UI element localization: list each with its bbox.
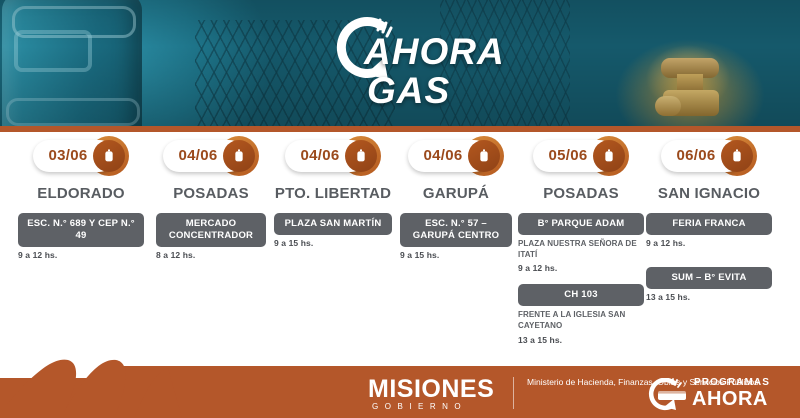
schedule-column-posadas-0406: 04/06 POSADAS MERCADO CONCENTRADOR 8 a 1… — [156, 136, 266, 336]
programas-text: PROGRAMAS — [694, 377, 770, 388]
badge-date-text: 04/06 — [293, 147, 347, 164]
hours-text: 8 a 12 hs. — [156, 250, 266, 260]
schedule-column-garupa: 04/06 GARUPÁ ESC. N.° 57 – GARUPÁ CENTRO… — [400, 136, 512, 336]
gas-cylinder-icon — [345, 140, 377, 172]
badge-date-text: 04/06 — [171, 147, 225, 164]
ahora-card-arrow-icon — [640, 378, 688, 412]
date-badge[interactable]: 05/06 — [533, 136, 629, 176]
place-chip[interactable]: SUM – B° EVITA — [646, 267, 772, 289]
schedule-column-san-ignacio: 06/06 SAN IGNACIO FERIA FRANCA 9 a 12 hs… — [646, 136, 772, 336]
hours-text: 9 a 12 hs. — [518, 263, 644, 273]
city-name: POSADAS — [156, 185, 266, 202]
badge-date-text: 03/06 — [41, 147, 95, 164]
misiones-logo-text: MISIONES — [368, 375, 494, 404]
badge-date-text: 05/06 — [541, 147, 595, 164]
date-badge[interactable]: 04/06 — [285, 136, 381, 176]
place-chip[interactable]: CH 103 — [518, 284, 644, 306]
ahora-gas-logo: AHORA GAS — [332, 12, 482, 120]
place-detail: PLAZA NUESTRA SEÑORA DE ITATÍ — [518, 239, 644, 261]
place-chip[interactable]: ESC. N.° 57 – GARUPÁ CENTRO — [400, 213, 512, 247]
city-name: SAN IGNACIO — [646, 185, 772, 202]
ahora-text: AHORA — [692, 388, 768, 411]
hours-text: 9 a 12 hs. — [646, 238, 772, 248]
date-badge[interactable]: 04/06 — [408, 136, 504, 176]
logo-line-gas: GAS — [367, 73, 505, 108]
city-name: POSADAS — [518, 185, 644, 202]
date-badge[interactable]: 03/06 — [33, 136, 129, 176]
gas-cylinder-icon — [93, 140, 125, 172]
place-chip[interactable]: PLAZA SAN MARTÍN — [274, 213, 392, 235]
place-chip[interactable]: B° PARQUE ADAM — [518, 213, 644, 235]
footer-divider — [513, 377, 514, 409]
gobierno-logo-text: GOBIERNO — [372, 402, 467, 411]
hours-text: 9 a 15 hs. — [274, 238, 392, 248]
city-name: GARUPÁ — [400, 185, 512, 202]
city-name: ELDORADO — [18, 185, 144, 202]
badge-date-text: 06/06 — [669, 147, 723, 164]
hours-text: 9 a 15 hs. — [400, 250, 512, 260]
date-badge[interactable]: 06/06 — [661, 136, 757, 176]
logo-text-block: AHORA GAS — [364, 34, 505, 108]
place-chip[interactable]: MERCADO CONCENTRADOR — [156, 213, 266, 247]
schedule-column-posadas-0506: 05/06 POSADAS B° PARQUE ADAM PLAZA NUEST… — [518, 136, 644, 336]
gas-cylinder-icon — [468, 140, 500, 172]
hours-text: 13 a 15 hs. — [518, 335, 644, 345]
schedule-column-pto-libertad: 04/06 PTO. LIBERTAD PLAZA SAN MARTÍN 9 a… — [274, 136, 392, 336]
hours-text: 9 a 12 hs. — [18, 250, 144, 260]
badge-date-text: 04/06 — [416, 147, 470, 164]
gas-cylinder-icon — [721, 140, 753, 172]
date-badge[interactable]: 04/06 — [163, 136, 259, 176]
schedule-column-eldorado: 03/06 ELDORADO ESC. N.° 689 Y CEP N.° 49… — [18, 136, 144, 336]
logo-line-ahora: AHORA — [364, 31, 505, 72]
schedule-columns: 03/06 ELDORADO ESC. N.° 689 Y CEP N.° 49… — [0, 136, 800, 336]
place-chip[interactable]: FERIA FRANCA — [646, 213, 772, 235]
misiones-m-watermark-icon — [6, 350, 186, 418]
city-name: PTO. LIBERTAD — [274, 185, 392, 202]
page-footer: MISIONES GOBIERNO Ministerio de Hacienda… — [0, 348, 800, 418]
gas-cylinder-icon — [593, 140, 625, 172]
place-detail: FRENTE A LA IGLESIA SAN CAYETANO — [518, 310, 644, 332]
gas-cylinder-icon — [223, 140, 255, 172]
banner-orange-strip — [0, 126, 800, 132]
hours-text: 13 a 15 hs. — [646, 292, 772, 302]
hero-banner: AHORA GAS — [0, 0, 800, 132]
place-chip[interactable]: ESC. N.° 689 Y CEP N.° 49 — [18, 213, 144, 247]
